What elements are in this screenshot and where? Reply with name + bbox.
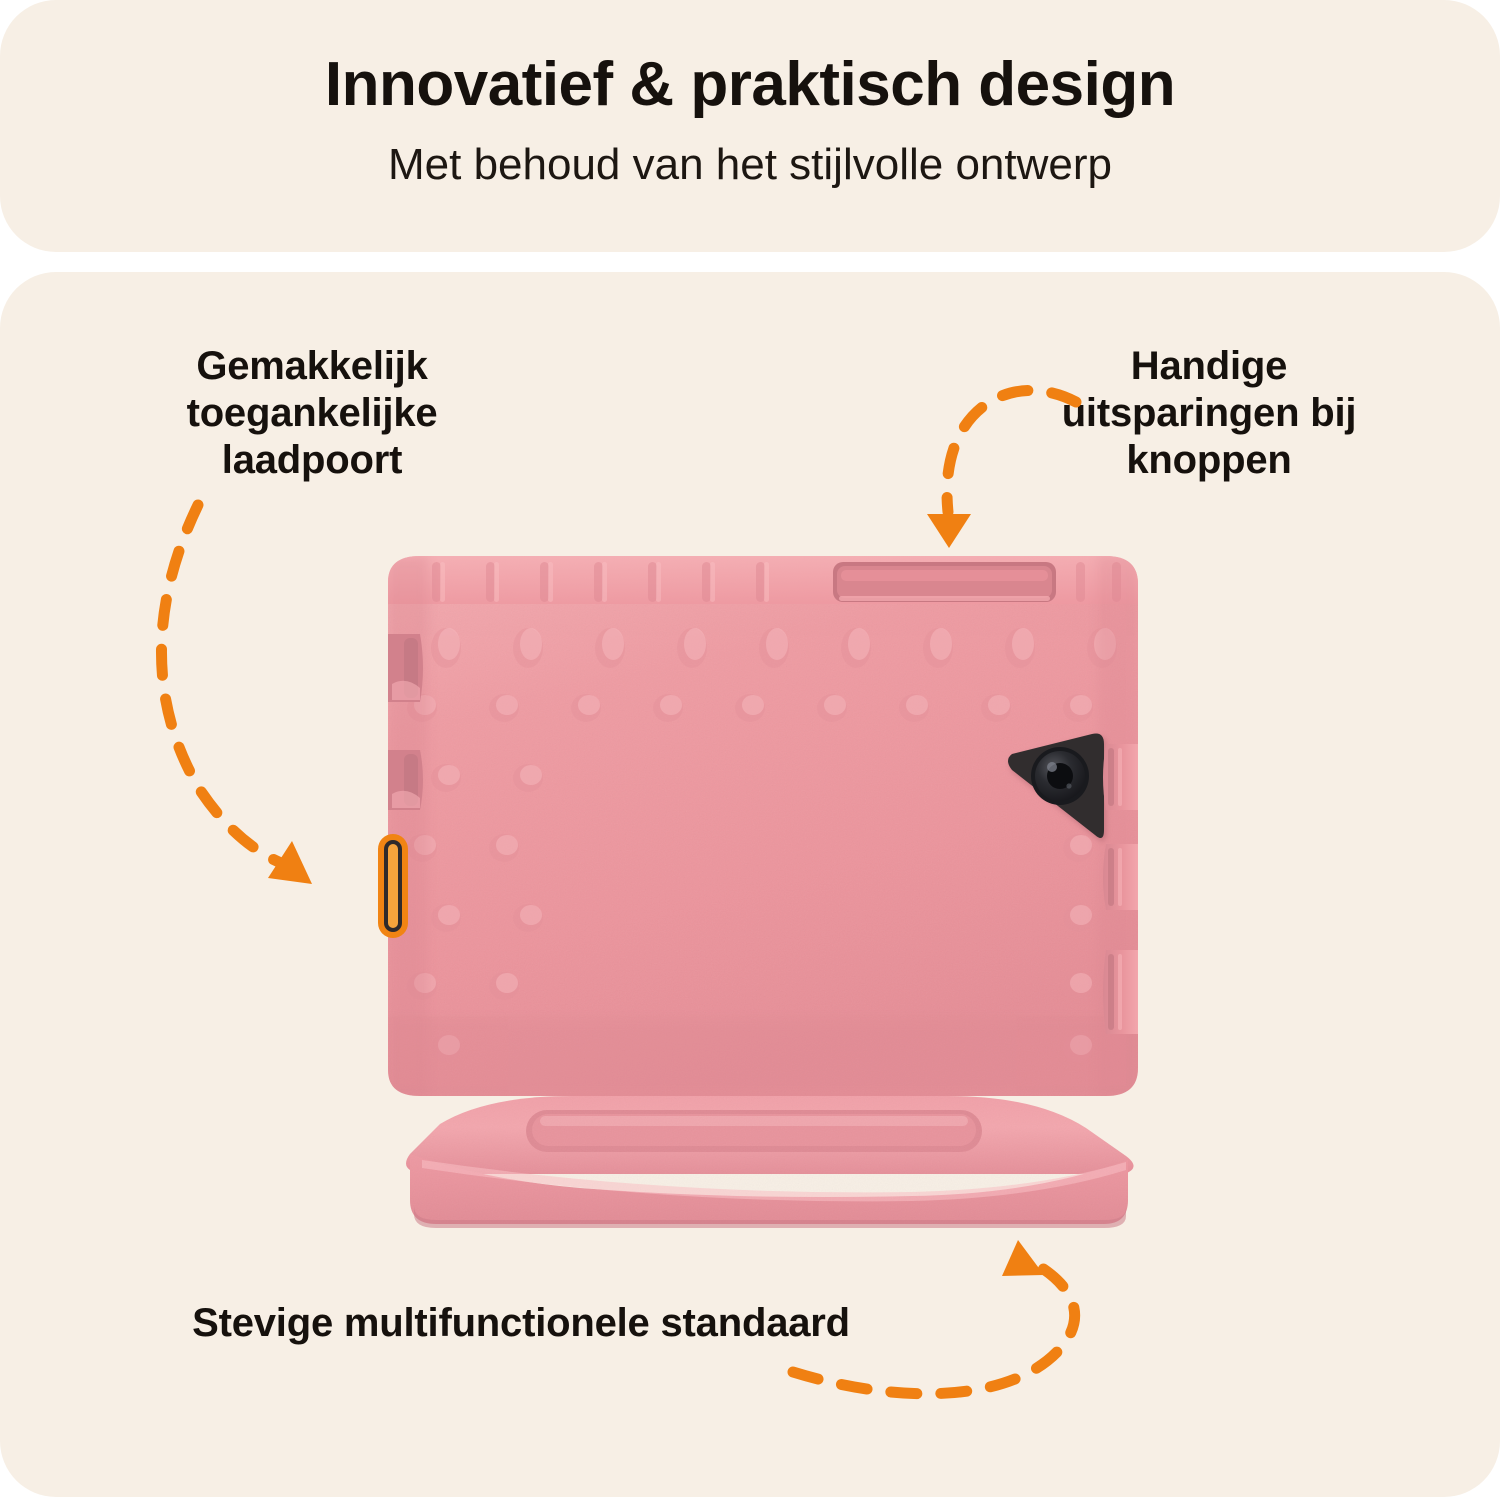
annotation-label-charging-port: Gemakkelijk toegankelijke laadpoort <box>92 343 532 485</box>
button-cutout-right-2 <box>1103 844 1138 910</box>
product-image-tablet-case <box>336 548 1184 1260</box>
speaker-cutout-left-1 <box>388 634 423 702</box>
button-cutout-right-group <box>1103 744 1138 1034</box>
stand-handle <box>406 1096 1134 1228</box>
button-cutout-top <box>833 562 1056 602</box>
page-subtitle: Met behoud van het stijlvolle ontwerp <box>0 140 1500 191</box>
case-body-group <box>388 556 1138 1098</box>
annotation-label-stand: Stevige multifunctionele standaard <box>186 1300 856 1347</box>
speaker-cutout-left-2 <box>388 750 423 810</box>
button-cutout-right-3 <box>1103 950 1138 1034</box>
camera-lens <box>1031 747 1089 805</box>
page-title: Innovatief & praktisch design <box>0 52 1500 117</box>
annotation-label-button-cutouts: Handige uitsparingen bij knoppen <box>1018 343 1400 485</box>
charging-port-cutout[interactable] <box>378 834 408 938</box>
button-cutout-right-1 <box>1103 744 1138 810</box>
header-card: Innovatief & praktisch design Met behoud… <box>0 0 1500 252</box>
